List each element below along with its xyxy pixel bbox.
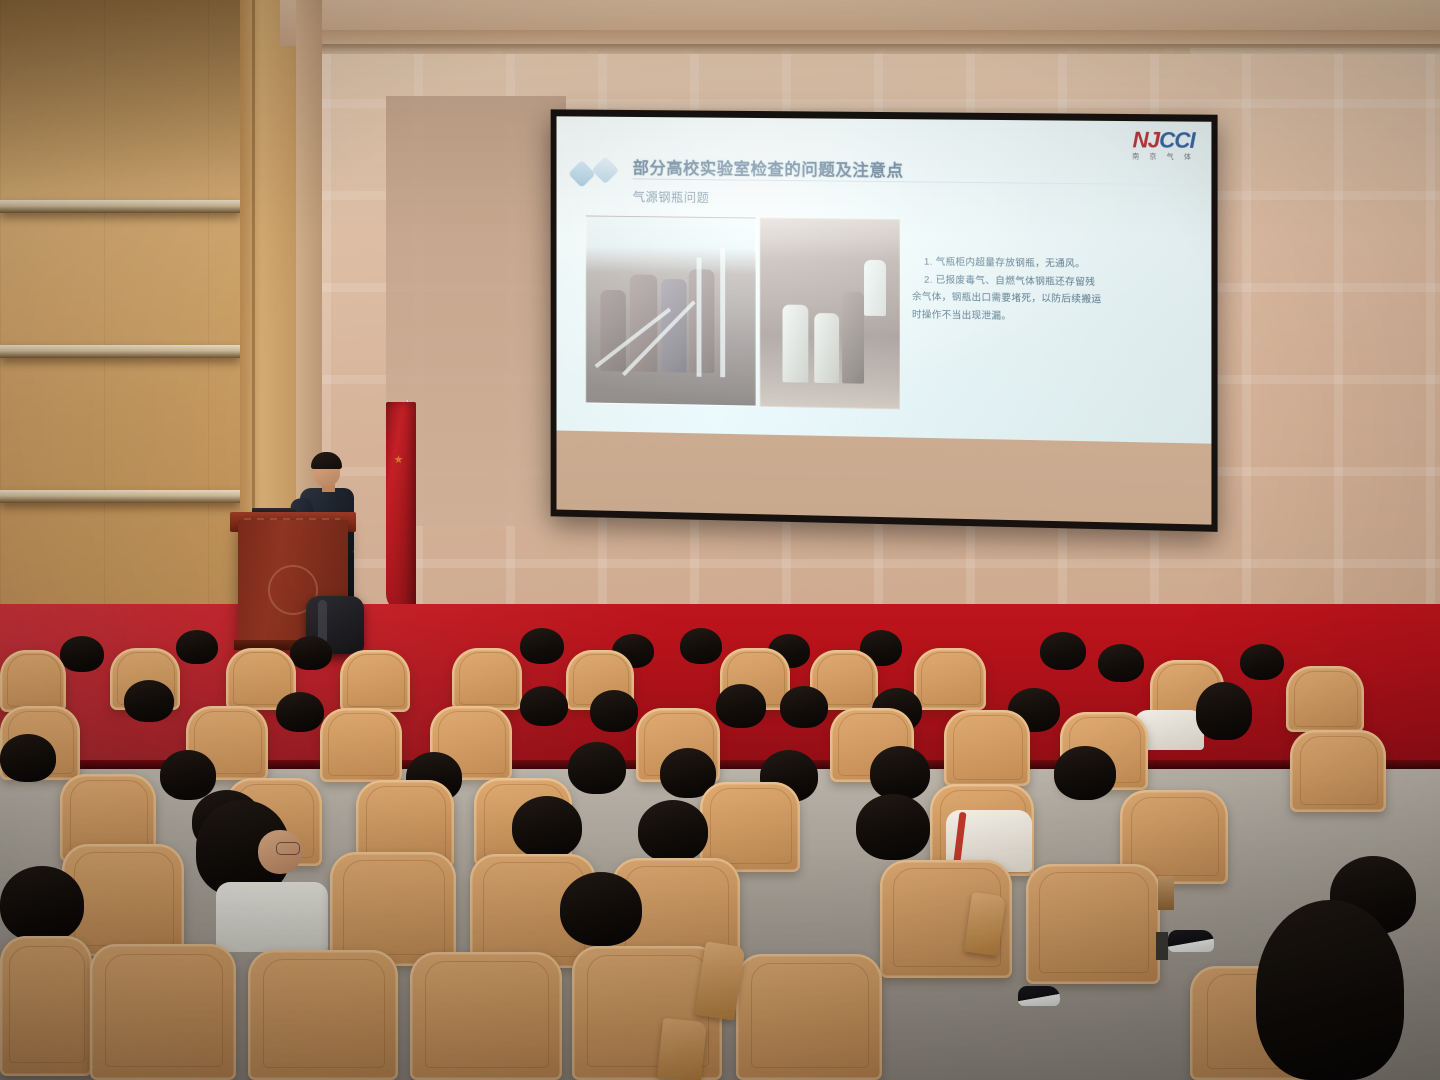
audience-head bbox=[568, 742, 626, 794]
chinese-national-flag bbox=[386, 402, 416, 614]
audience-head bbox=[560, 872, 642, 946]
wall-shelf bbox=[0, 200, 240, 213]
audience-head bbox=[780, 686, 828, 728]
auditorium-photo: NJCCI 南 京 气 体 部分高校实验室检查的问题及注意点 气源钢瓶问题 bbox=[0, 0, 1440, 1080]
audience-head bbox=[856, 794, 930, 860]
seat[interactable] bbox=[90, 944, 236, 1080]
audience-head bbox=[870, 746, 930, 800]
seat[interactable] bbox=[330, 852, 456, 966]
audience-head bbox=[512, 796, 582, 858]
audience-head bbox=[1098, 644, 1144, 682]
seat[interactable] bbox=[410, 952, 562, 1080]
audience-head bbox=[1196, 682, 1252, 740]
seat[interactable] bbox=[914, 648, 986, 710]
seat-leg bbox=[1156, 932, 1168, 960]
proscenium-inner-edge bbox=[322, 44, 1440, 54]
audience-head bbox=[716, 684, 766, 728]
audience-head bbox=[176, 630, 218, 664]
audience-head bbox=[1240, 644, 1284, 680]
audience-head bbox=[1054, 746, 1116, 800]
seat[interactable] bbox=[0, 936, 92, 1076]
audience-head bbox=[0, 866, 84, 942]
seat[interactable] bbox=[1286, 666, 1364, 732]
screen-surface: NJCCI 南 京 气 体 部分高校实验室检查的问题及注意点 气源钢瓶问题 bbox=[557, 116, 1212, 524]
glasses-icon bbox=[276, 842, 300, 855]
seat[interactable] bbox=[320, 708, 402, 782]
audience-head bbox=[680, 628, 722, 664]
audience-seating bbox=[0, 614, 1440, 1080]
projector-vignette bbox=[557, 116, 1212, 444]
presentation-slide: NJCCI 南 京 气 体 部分高校实验室检查的问题及注意点 气源钢瓶问题 bbox=[557, 116, 1212, 444]
audience-head-foreground bbox=[1256, 900, 1404, 1080]
audience-head bbox=[290, 636, 332, 670]
seat[interactable] bbox=[736, 954, 882, 1080]
seat[interactable] bbox=[452, 648, 522, 710]
audience-head bbox=[0, 734, 56, 782]
audience-head bbox=[590, 690, 638, 732]
seat-armrest bbox=[657, 1018, 707, 1080]
audience-head bbox=[276, 692, 324, 732]
seat[interactable] bbox=[1290, 730, 1386, 812]
audience-head bbox=[124, 680, 174, 722]
audience-head bbox=[520, 628, 564, 664]
audience-head bbox=[60, 636, 104, 672]
audience-head bbox=[520, 686, 568, 726]
audience-head bbox=[160, 750, 216, 800]
audience-head bbox=[1040, 632, 1086, 670]
seat[interactable] bbox=[944, 710, 1030, 786]
wall-shelf bbox=[0, 490, 240, 503]
shoe bbox=[1018, 986, 1060, 1006]
seat[interactable] bbox=[248, 950, 398, 1080]
seat[interactable] bbox=[340, 650, 410, 712]
seat[interactable] bbox=[0, 650, 66, 712]
seat-leg bbox=[1158, 876, 1174, 910]
audience-head bbox=[638, 800, 708, 862]
projection-screen: NJCCI 南 京 气 体 部分高校实验室检查的问题及注意点 气源钢瓶问题 bbox=[551, 109, 1218, 532]
audience-shoulders bbox=[216, 882, 328, 952]
shoe bbox=[1168, 930, 1214, 952]
wall-shelf bbox=[0, 345, 240, 358]
seat[interactable] bbox=[1026, 864, 1160, 984]
